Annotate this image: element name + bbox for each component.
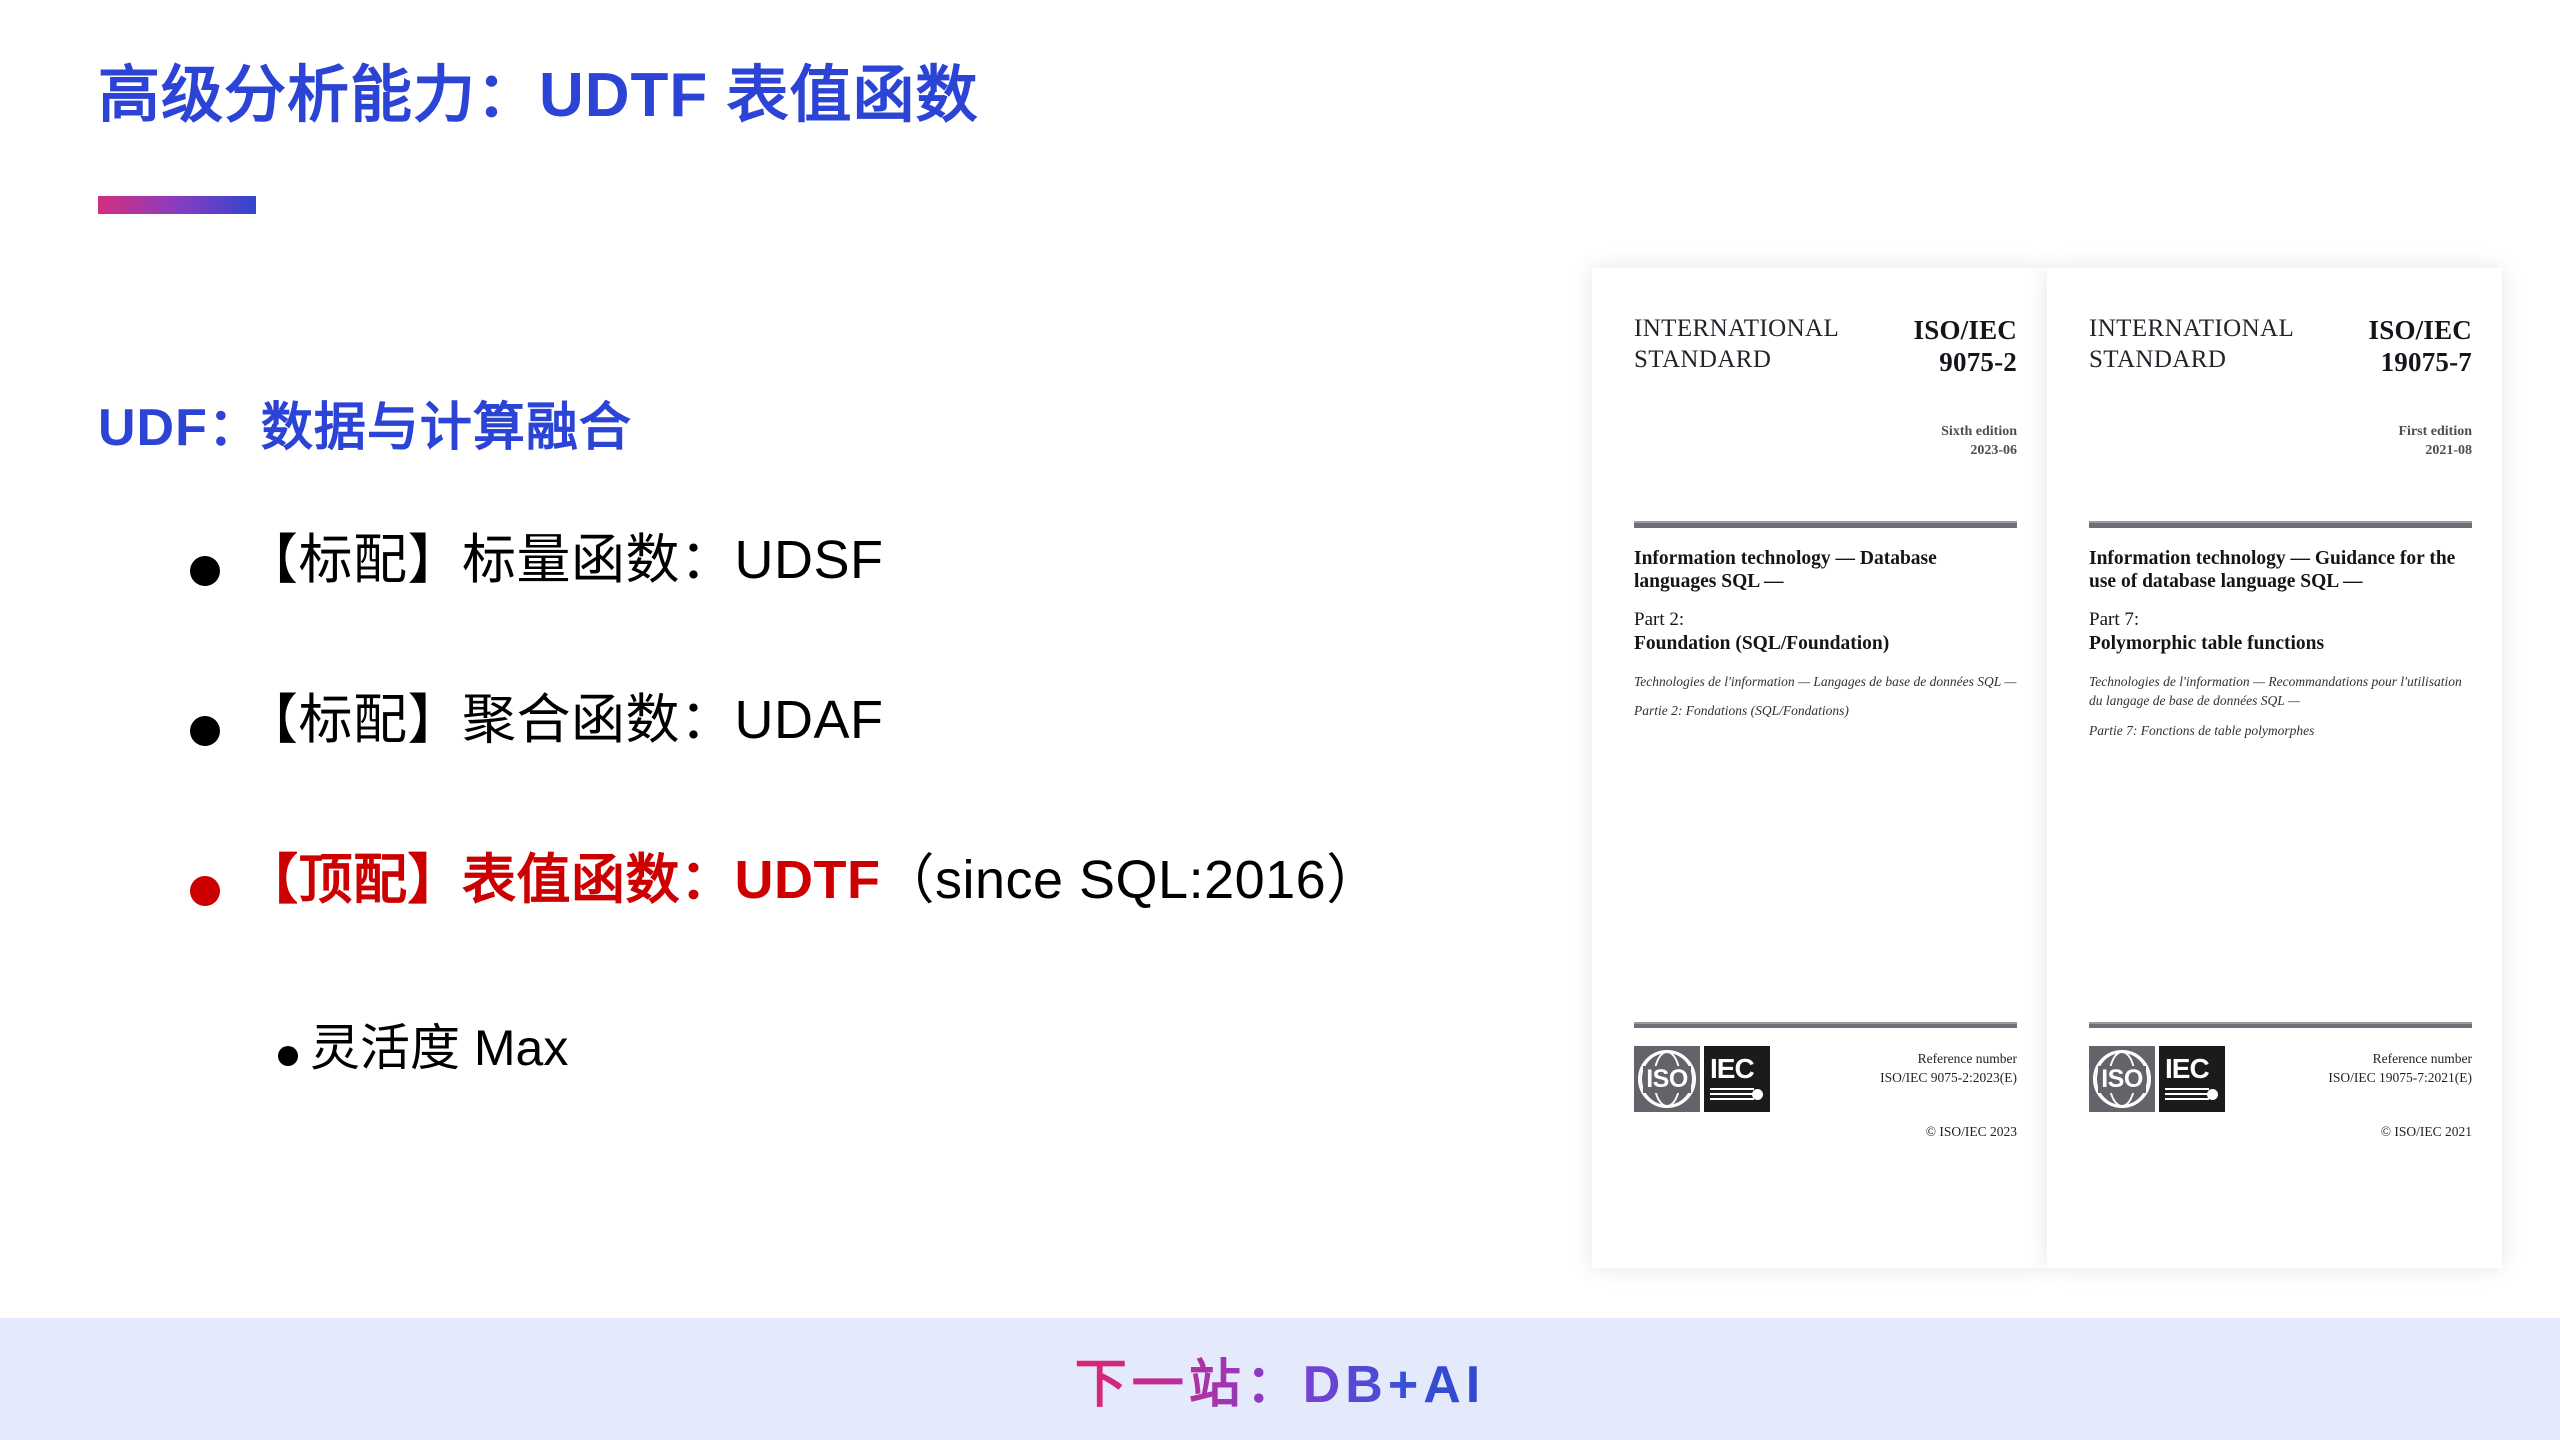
doc-kind-line1: INTERNATIONAL [2089, 314, 2294, 345]
bullet-label: 【标配】聚合函数：UDAF [244, 688, 884, 753]
doc-edition-date: 2021-08 [2089, 442, 2472, 461]
doc-number-line1: ISO/IEC [2369, 314, 2472, 346]
doc-copyright: © ISO/IEC 2021 [2328, 1124, 2472, 1140]
doc-standard-number: ISO/IEC 19075-7 [2369, 314, 2472, 379]
doc-edition-label: Sixth edition [1634, 423, 2017, 442]
doc-edition-date: 2023-06 [1634, 442, 2017, 461]
list-item: 【标配】聚合函数：UDAF [190, 688, 1590, 848]
doc-reference-block: Reference number ISO/IEC 9075-2:2023(E) … [1880, 1046, 2017, 1140]
doc-part-title: Polymorphic table functions [2089, 632, 2472, 656]
iec-dot-icon [2207, 1089, 2218, 1100]
doc-edition-label: First edition [2089, 423, 2472, 442]
title-accent-bar [98, 196, 256, 214]
doc-edition: Sixth edition 2023-06 [1634, 423, 2017, 461]
doc-number-line2: 9075-2 [1914, 346, 2017, 378]
iec-bars-icon [2165, 1088, 2209, 1099]
iec-logo-text: IEC [1710, 1055, 1754, 1083]
bullet-tail-text: （since SQL:2016） [880, 850, 1380, 910]
doc-french-title: Technologies de l'information — Recomman… [2089, 672, 2472, 711]
doc-footer-row: ISO IEC Reference number ISO/IEC 9075-2:… [1634, 1046, 2017, 1140]
doc-french-title: Technologies de l'information — Langages… [1634, 672, 2017, 692]
sub-bullet-label: 灵活度 Max [310, 1018, 568, 1078]
iec-dot-icon [1752, 1089, 1763, 1100]
doc-reference-number: ISO/IEC 9075-2:2023(E) [1880, 1069, 2017, 1088]
doc-number-line1: ISO/IEC [1914, 314, 2017, 346]
doc-title: Information technology — Guidance for th… [2089, 547, 2472, 595]
doc-reference-label: Reference number [1880, 1050, 2017, 1069]
bullet-dot-icon-red [190, 876, 220, 906]
iso-document-thumbnails: INTERNATIONAL STANDARD ISO/IEC 9075-2 Si… [1592, 268, 2502, 1268]
doc-divider-rule [1634, 521, 2017, 528]
doc-kind-line2: STANDARD [2089, 345, 2294, 376]
sub-bullet-dot-icon [278, 1046, 298, 1066]
doc-reference-number: ISO/IEC 19075-7:2021(E) [2328, 1069, 2472, 1088]
iso-logo-icon: ISO [2089, 1046, 2155, 1112]
doc-reference-label: Reference number [2328, 1050, 2472, 1069]
doc-header: INTERNATIONAL STANDARD ISO/IEC 9075-2 [1634, 268, 2017, 379]
list-item-highlighted: 【顶配】表值函数：UDTF（since SQL:2016） [190, 848, 1590, 1008]
doc-kind: INTERNATIONAL STANDARD [2089, 314, 2294, 375]
sub-list-item: 灵活度 Max [278, 1018, 1590, 1078]
doc-standard-number: ISO/IEC 9075-2 [1914, 314, 2017, 379]
doc-kind-line1: INTERNATIONAL [1634, 314, 1839, 345]
doc-edition: First edition 2021-08 [2089, 423, 2472, 461]
doc-part-label: Part 7: [2089, 609, 2472, 632]
iso-document-cover-19075-7: INTERNATIONAL STANDARD ISO/IEC 19075-7 F… [2047, 268, 2502, 1268]
iec-bars-icon [1710, 1088, 1754, 1099]
doc-reference-block: Reference number ISO/IEC 19075-7:2021(E)… [2328, 1046, 2472, 1140]
section-heading: UDF：数据与计算融合 [98, 385, 632, 460]
doc-reference: Reference number ISO/IEC 19075-7:2021(E) [2328, 1046, 2472, 1088]
doc-divider-rule [2089, 521, 2472, 528]
footer-banner: 下一站：DB+AI [0, 1318, 2560, 1440]
doc-copyright: © ISO/IEC 2023 [1880, 1124, 2017, 1140]
list-item: 【标配】标量函数：UDSF [190, 528, 1590, 688]
doc-kind-line2: STANDARD [1634, 345, 1839, 376]
doc-footer-rule [2089, 1022, 2472, 1028]
doc-reference: Reference number ISO/IEC 9075-2:2023(E) [1880, 1046, 2017, 1088]
iso-logo-text: ISO [2098, 1066, 2146, 1093]
slide-root: 高级分析能力：UDTF 表值函数 UDF：数据与计算融合 【标配】标量函数：UD… [0, 0, 2560, 1440]
doc-footer-row: ISO IEC Reference number ISO/IEC 19075-7… [2089, 1046, 2472, 1140]
bullet-highlight-text: 【顶配】表值函数：UDTF [244, 850, 880, 910]
doc-number-line2: 19075-7 [2369, 346, 2472, 378]
bullet-label-highlighted: 【顶配】表值函数：UDTF（since SQL:2016） [244, 848, 1381, 913]
bullet-list: 【标配】标量函数：UDSF 【标配】聚合函数：UDAF 【顶配】表值函数：UDT… [190, 528, 1590, 1078]
doc-french-part: Partie 7: Fonctions de table polymorphes [2089, 721, 2472, 741]
bullet-dot-icon [190, 556, 220, 586]
standards-logos: ISO IEC [1634, 1046, 1770, 1112]
page-title: 高级分析能力：UDTF 表值函数 [98, 62, 979, 130]
footer-tagline: 下一站：DB+AI [1075, 1342, 1485, 1417]
doc-part-label: Part 2: [1634, 609, 2017, 632]
doc-title: Information technology — Database langua… [1634, 547, 2017, 595]
doc-footer: ISO IEC Reference number ISO/IEC 19075-7… [2089, 1022, 2472, 1140]
doc-kind: INTERNATIONAL STANDARD [1634, 314, 1839, 375]
iso-logo-text: ISO [1643, 1066, 1691, 1093]
iso-logo-icon: ISO [1634, 1046, 1700, 1112]
doc-part-title: Foundation (SQL/Foundation) [1634, 632, 2017, 656]
iso-document-cover-9075-2: INTERNATIONAL STANDARD ISO/IEC 9075-2 Si… [1592, 268, 2047, 1268]
bullet-dot-icon [190, 716, 220, 746]
doc-header: INTERNATIONAL STANDARD ISO/IEC 19075-7 [2089, 268, 2472, 379]
iec-logo-icon: IEC [1704, 1046, 1770, 1112]
bullet-label: 【标配】标量函数：UDSF [244, 528, 884, 593]
doc-footer: ISO IEC Reference number ISO/IEC 9075-2:… [1634, 1022, 2017, 1140]
doc-french-part: Partie 2: Fondations (SQL/Fondations) [1634, 701, 2017, 721]
doc-footer-rule [1634, 1022, 2017, 1028]
iec-logo-text: IEC [2165, 1055, 2209, 1083]
iec-logo-icon: IEC [2159, 1046, 2225, 1112]
standards-logos: ISO IEC [2089, 1046, 2225, 1112]
